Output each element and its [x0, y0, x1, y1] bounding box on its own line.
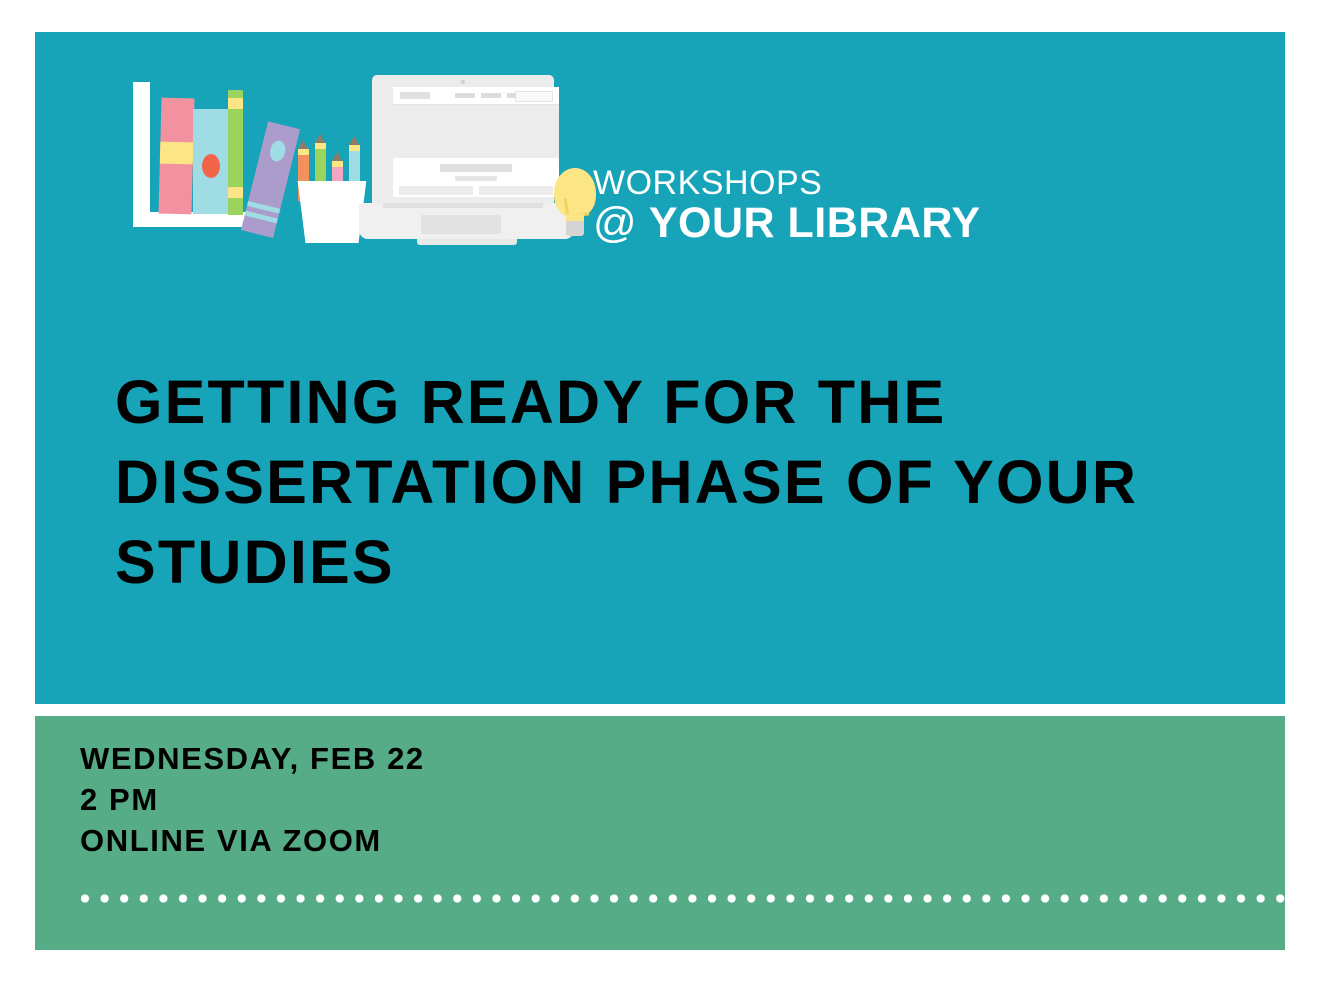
book-purple-oval — [268, 139, 288, 163]
pencil-tip — [332, 152, 342, 161]
screen-logo-placeholder — [400, 92, 430, 99]
lightbulb-base — [566, 221, 584, 236]
book-blue — [193, 109, 228, 214]
screen-card-left — [399, 186, 473, 195]
book-pink — [158, 98, 194, 215]
at-symbol: @ — [593, 199, 637, 247]
logo-line-your-library: @ YOUR LIBRARY — [593, 201, 981, 246]
laptop-icon — [359, 75, 574, 247]
screen-cta-block — [440, 164, 512, 172]
green-details-panel: WEDNESDAY, FEB 22 2 PM ONLINE VIA ZOOM — [35, 716, 1285, 950]
screen-navbar — [393, 87, 559, 105]
laptop-lid — [372, 75, 554, 203]
laptop-hinge — [383, 203, 543, 208]
book-green-band-bottom — [228, 187, 243, 198]
laptop-screen — [393, 87, 559, 197]
screen-hero-block — [393, 105, 559, 158]
book-purple-leaning — [241, 121, 300, 238]
screen-search-field — [515, 91, 553, 102]
laptop-trackpad — [421, 215, 501, 234]
book-green — [228, 90, 243, 215]
pencil-tip — [315, 134, 325, 143]
pencil-tip — [298, 140, 308, 149]
screen-menu-item — [455, 93, 475, 98]
logo-line-workshops: WORKSHOPS — [593, 166, 981, 200]
bookend-vertical — [133, 82, 150, 227]
event-details: WEDNESDAY, FEB 22 2 PM ONLINE VIA ZOOM — [80, 738, 425, 861]
screen-menu-item — [481, 93, 501, 98]
poster-canvas: WORKSHOPS @ YOUR LIBRARY Getting Ready f… — [0, 0, 1320, 981]
lightbulb-icon — [551, 168, 599, 238]
books-icon — [125, 82, 310, 242]
book-blue-oval — [202, 154, 220, 178]
book-green-band-top — [228, 98, 243, 109]
dotted-divider — [81, 894, 1285, 903]
book-pink-band — [160, 142, 194, 165]
laptop-foot — [417, 239, 517, 245]
book-purple-stripe-2 — [245, 211, 278, 224]
workshops-at-your-library-logo: WORKSHOPS @ YOUR LIBRARY — [85, 70, 1055, 265]
webcam-icon — [461, 80, 465, 84]
logo-your-library-text: YOUR LIBRARY — [649, 199, 981, 247]
event-date: WEDNESDAY, FEB 22 — [80, 738, 425, 779]
page-title: Getting Ready for the Dissertation Phase… — [115, 362, 1195, 602]
logo-wordmark: WORKSHOPS @ YOUR LIBRARY — [593, 166, 981, 246]
laptop-base — [359, 203, 574, 239]
event-location: ONLINE VIA ZOOM — [80, 820, 425, 861]
teal-header-panel: WORKSHOPS @ YOUR LIBRARY Getting Ready f… — [35, 32, 1285, 704]
screen-subtext-block — [455, 176, 497, 181]
screen-card-right — [479, 186, 553, 195]
event-time: 2 PM — [80, 779, 425, 820]
pencil-tip — [349, 136, 359, 145]
